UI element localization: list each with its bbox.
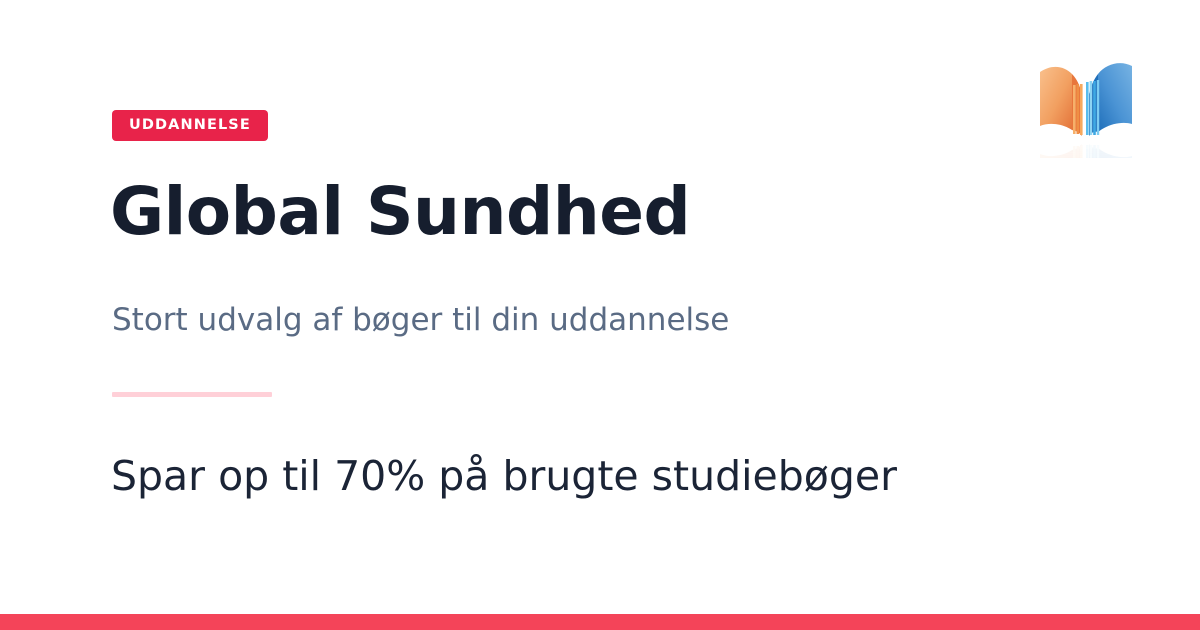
- brand-logo: [1030, 48, 1142, 158]
- accent-divider: [112, 392, 272, 397]
- promo-tagline: Spar op til 70% på brugte studiebøger: [111, 450, 897, 503]
- page-subtitle: Stort udvalg af bøger til din uddannelse: [112, 300, 729, 340]
- page-title: Global Sundhed: [110, 176, 690, 249]
- category-badge: UDDANNELSE: [112, 110, 268, 141]
- footer-accent-bar: [0, 614, 1200, 630]
- promo-card: UDDANNELSE Global Sundhed Stort udvalg a…: [0, 0, 1200, 630]
